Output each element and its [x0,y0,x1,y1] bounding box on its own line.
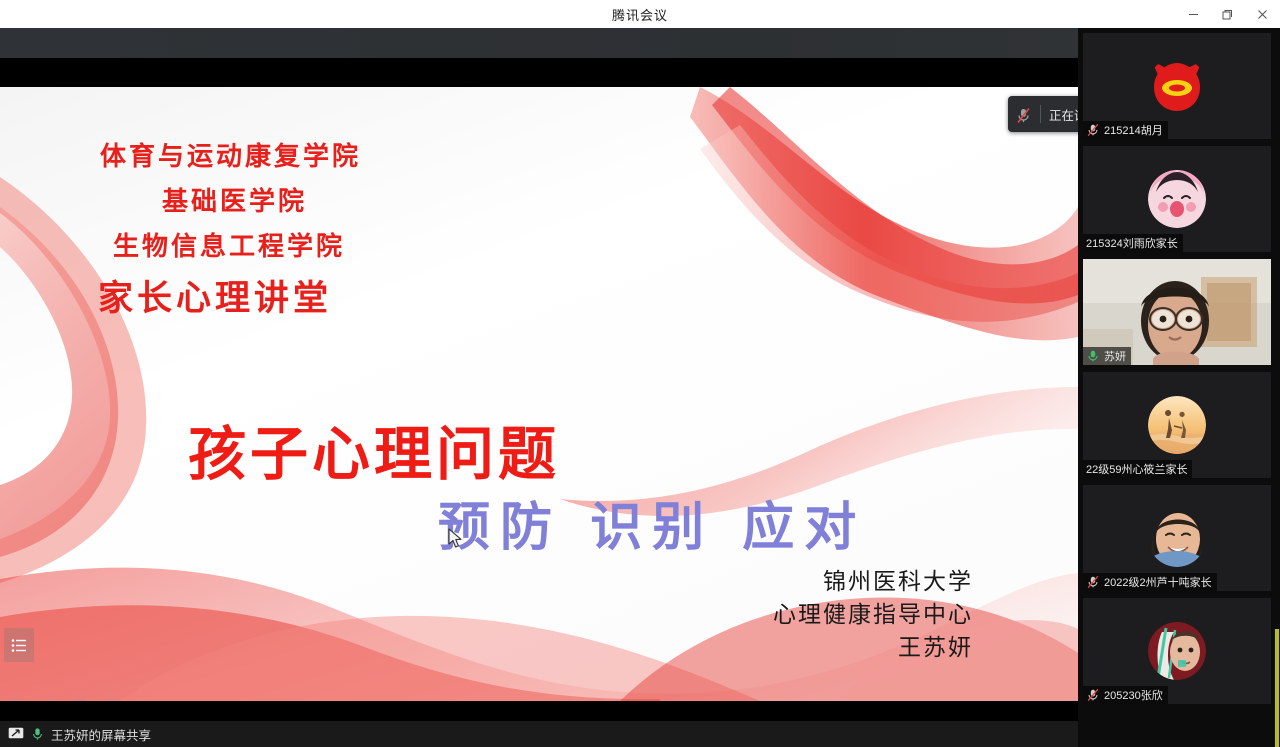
slide-heading-4: 家长心理讲堂 [98,270,332,321]
minimize-button[interactable] [1176,0,1210,28]
window-title: 腾讯会议 [612,5,668,24]
shared-screen-stage: 体育与运动康复学院 基础医学院 生物信息工程学院 家长心理讲堂 孩子心理问题 预… [0,28,1078,721]
slide-heading-1: 体育与运动康复学院 [100,136,361,173]
scrollbar-thumb[interactable] [1275,629,1279,747]
slide-signature-org: 锦州医科大学 [823,562,973,596]
participant-tile[interactable]: 205230张欣 [1083,598,1271,704]
muted-mic-icon [1086,688,1101,702]
slide-main-title: 孩子心理问题 [188,407,560,491]
muted-mic-icon [1086,575,1101,589]
share-screen-icon [8,727,24,741]
share-top-rail [0,28,1078,58]
participant-name-bar: 215214胡月 [1083,121,1168,139]
window-controls [1176,0,1280,28]
participant-name: 22级59州心筱兰家长 [1086,461,1187,477]
participant-tile[interactable]: 215214胡月 [1083,33,1271,139]
slide-heading-3: 生物信息工程学院 [113,226,345,263]
slide-mini-toolbar [8,694,118,701]
slide-subtitle: 预防 识别 应对 [438,485,866,560]
avatar [1148,170,1206,228]
share-status-label: 王苏妍的屏幕共享 [51,725,151,744]
slide-sheet: 体育与运动康复学院 基础医学院 生物信息工程学院 家长心理讲堂 孩子心理问题 预… [0,87,1078,701]
participant-rail[interactable]: 215214胡月 215324刘雨欣家长 [1078,28,1280,747]
active-mic-icon [1086,349,1101,363]
participant-name: 215324刘雨欣家长 [1086,235,1178,251]
participant-name-bar: 22级59州心筱兰家长 [1083,460,1192,478]
participant-tile[interactable]: 215324刘雨欣家长 [1083,146,1271,252]
participant-tile[interactable]: 22级59州心筱兰家长 [1083,372,1271,478]
avatar [1148,396,1206,454]
active-mic-icon[interactable] [31,726,44,742]
speaking-indicator-toast: 正在讲话: 王苏妍; [1008,96,1078,132]
participant-name: 205230张欣 [1104,687,1163,703]
mouse-cursor [448,528,464,550]
toast-divider [1040,105,1041,123]
participant-name-bar: 205230张欣 [1083,686,1168,704]
slide-signature-center: 心理健康指导中心 [773,595,973,629]
participant-rail-scrollbar[interactable] [1274,629,1280,747]
close-button[interactable] [1244,0,1280,28]
restore-icon [1222,9,1233,20]
participant-name-bar: 苏妍 [1083,347,1131,365]
participant-name-bar: 2022级2州芦十吨家长 [1083,573,1217,591]
close-icon [1257,9,1268,20]
participant-name-bar: 215324刘雨欣家长 [1083,234,1183,252]
slide-footer-letterbox [0,701,1078,721]
avatar [1148,509,1206,567]
avatar [1148,622,1206,680]
slide-signature-name: 王苏妍 [898,628,973,662]
participant-tile[interactable]: 苏妍 [1083,259,1271,365]
muted-mic-icon [1086,123,1101,137]
letterbox-band [0,58,1078,87]
slide-outline-button[interactable] [4,628,34,662]
speaking-text: 正在讲话: 王苏妍; [1049,105,1078,124]
participant-name: 苏妍 [1104,348,1126,364]
minimize-icon [1188,9,1199,20]
screen-share-status-bar: 王苏妍的屏幕共享 [0,721,1078,747]
muted-mic-icon [1016,107,1031,121]
participant-name: 215214胡月 [1104,122,1163,138]
presentation-slide: 体育与运动康复学院 基础医学院 生物信息工程学院 家长心理讲堂 孩子心理问题 预… [0,87,1078,721]
slide-heading-2: 基础医学院 [162,181,307,218]
participant-name: 2022级2州芦十吨家长 [1104,574,1212,590]
participant-tile[interactable]: 2022级2州芦十吨家长 [1083,485,1271,591]
window-title-bar: 腾讯会议 [0,0,1280,28]
list-icon [11,638,28,653]
restore-button[interactable] [1210,0,1244,28]
avatar [1148,57,1206,115]
